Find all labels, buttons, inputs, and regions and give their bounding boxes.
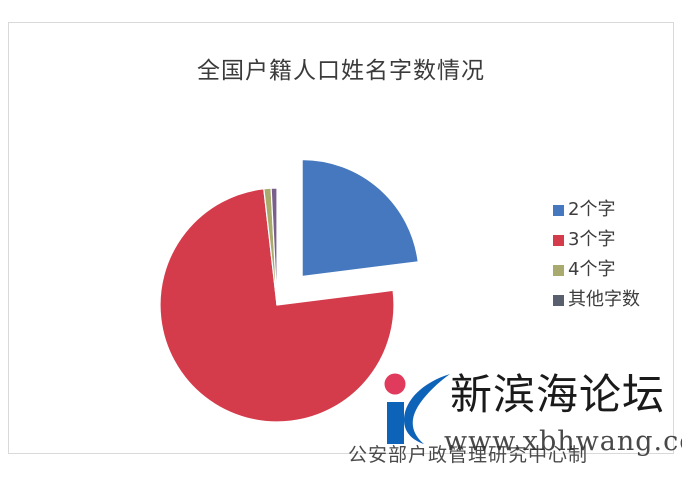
legend-item-label: 3个字 <box>568 231 615 249</box>
legend-item-label: 4个字 <box>568 261 615 279</box>
chart-legend: 2个字 3个字 4个字 其他字数 <box>553 195 673 315</box>
legend-item-3zi[interactable]: 3个字 <box>553 225 673 255</box>
legend-item-label: 其他字数 <box>568 291 640 309</box>
pie-chart-svg <box>109 78 449 408</box>
pie-slice[interactable] <box>302 159 418 276</box>
legend-item-4zi[interactable]: 4个字 <box>553 255 673 285</box>
legend-swatch-icon <box>553 265 564 276</box>
legend-swatch-icon <box>553 295 564 306</box>
legend-item-other[interactable]: 其他字数 <box>553 285 673 315</box>
legend-item-2zi[interactable]: 2个字 <box>553 195 673 225</box>
pie-slice-group <box>160 159 418 422</box>
chart-frame: 全国户籍人口姓名字数情况 2个字 3个字 4个字 其他字数 <box>8 22 674 454</box>
legend-item-label: 2个字 <box>568 201 615 219</box>
legend-swatch-icon <box>553 205 564 216</box>
legend-swatch-icon <box>553 235 564 246</box>
source-note: 公安部户政管理研究中心制 <box>348 440 588 467</box>
